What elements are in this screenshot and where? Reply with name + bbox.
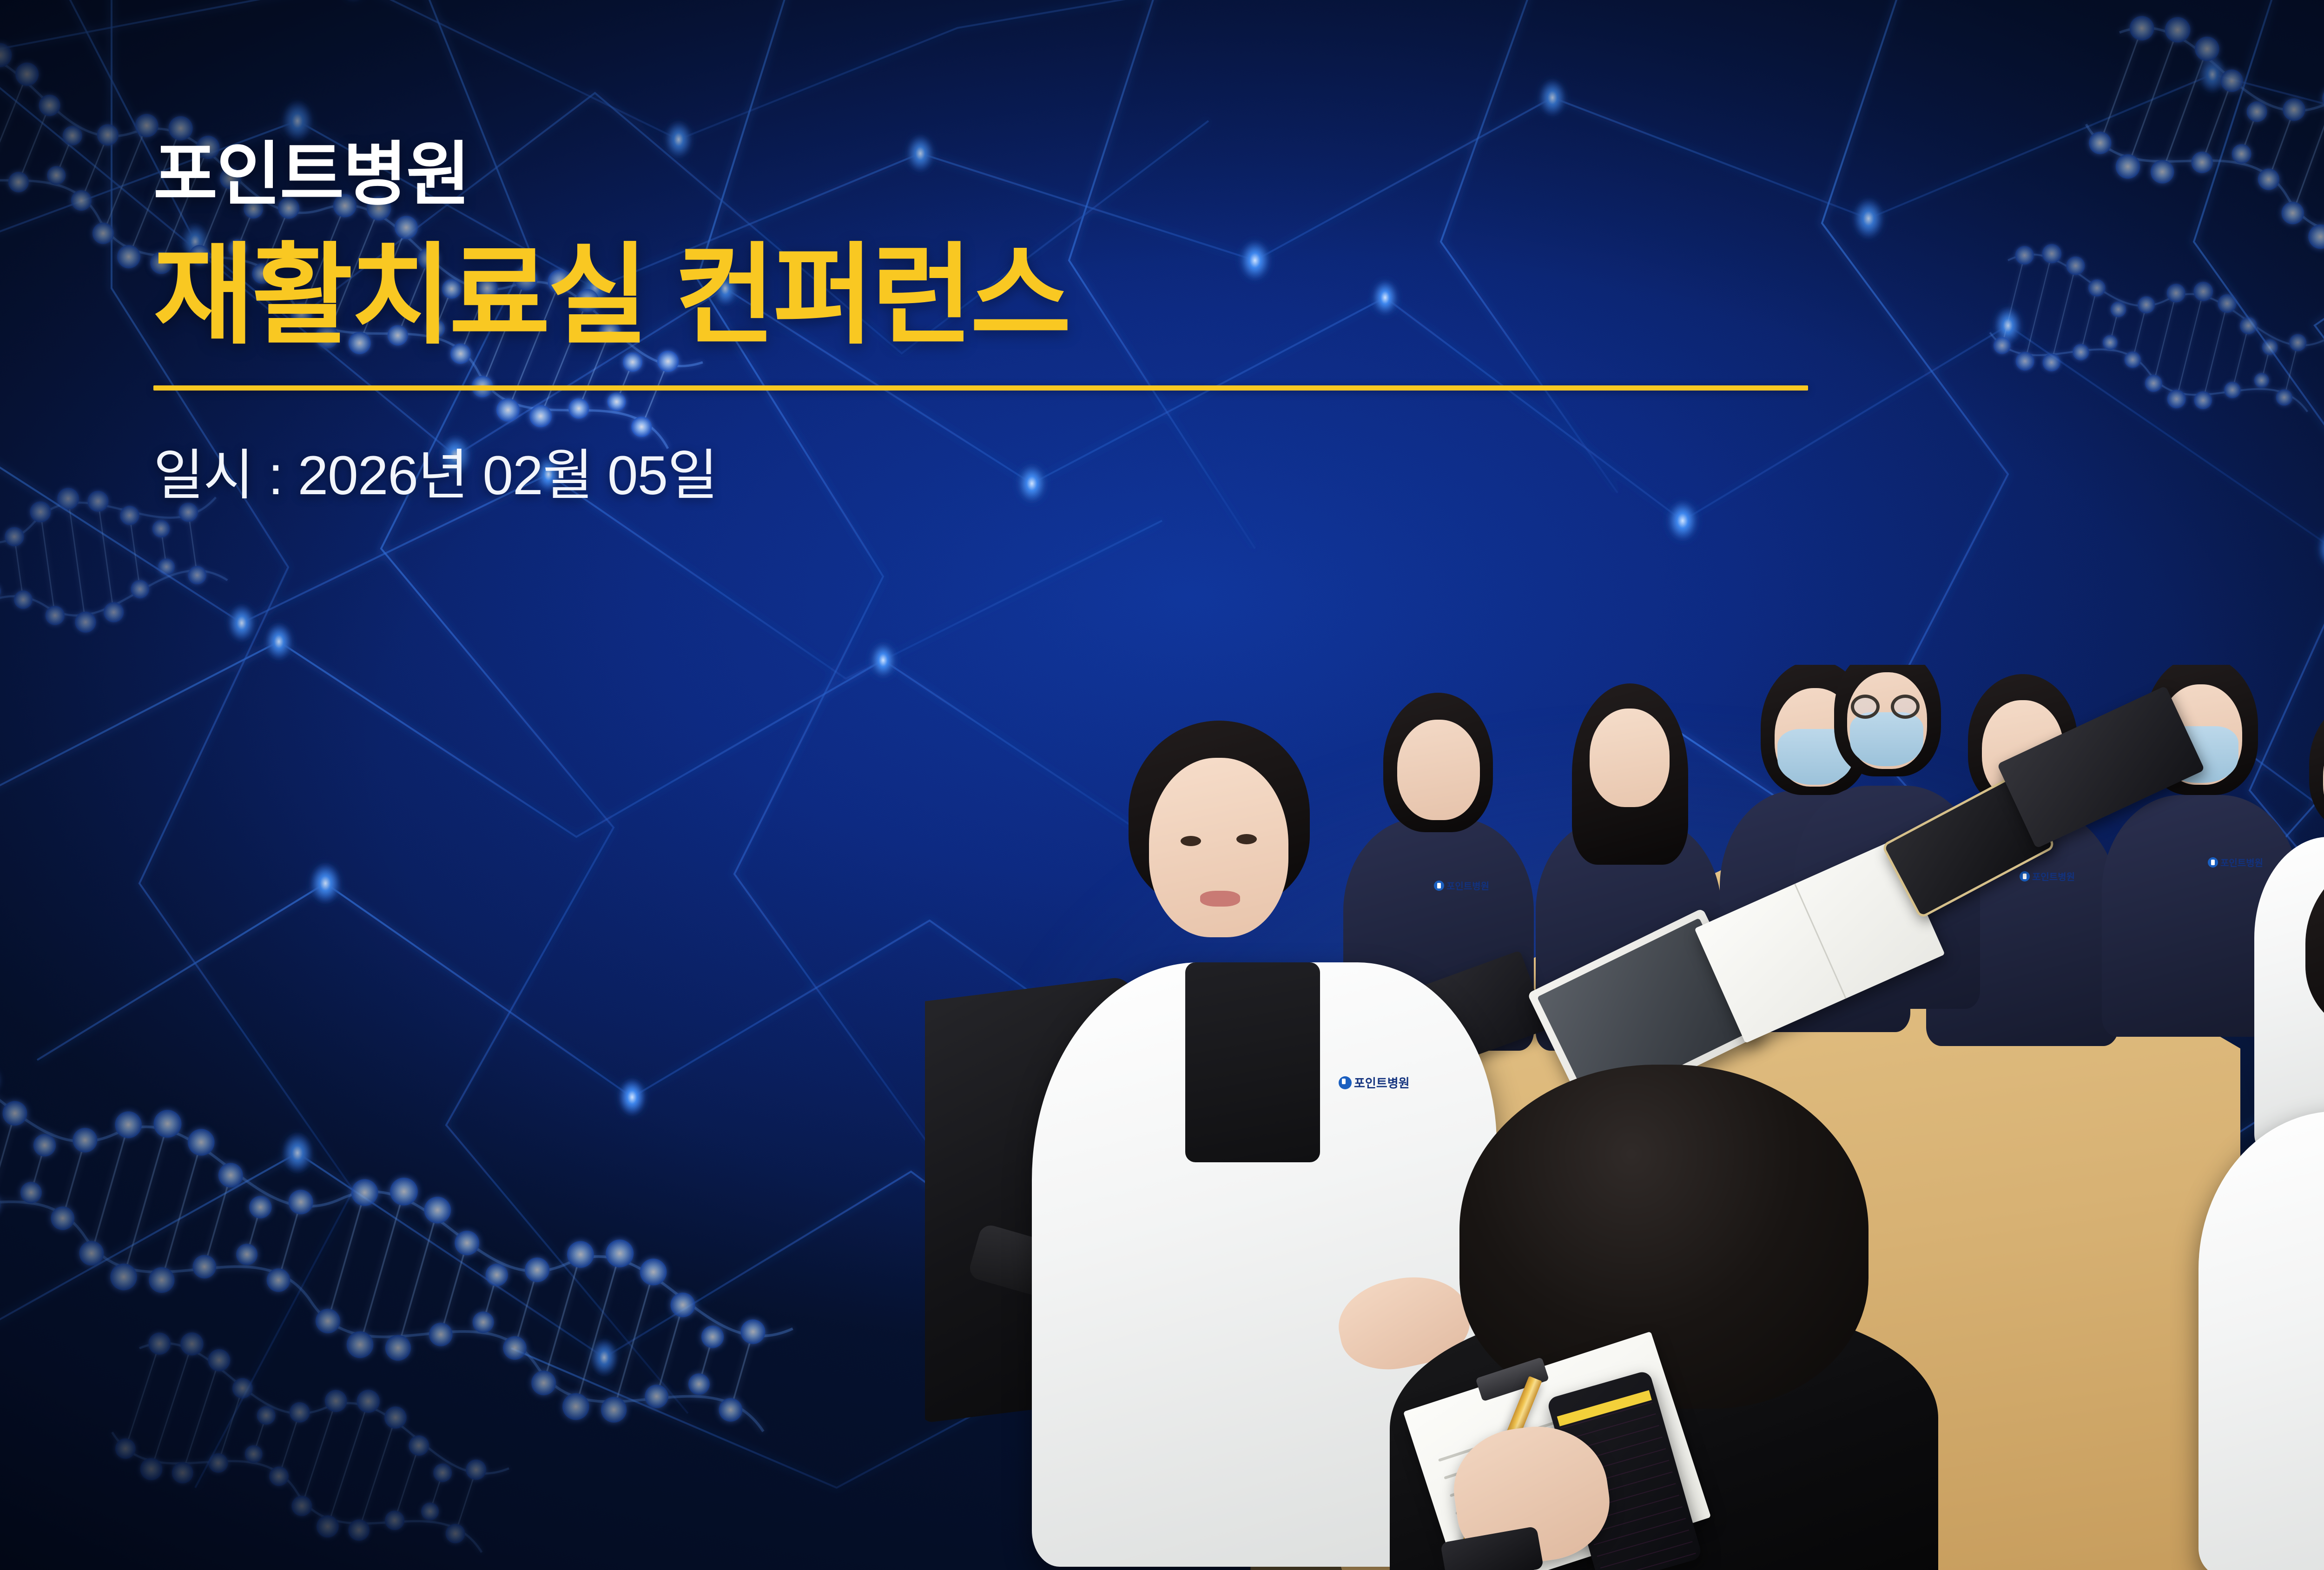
uniform-logo-text: 포인트병원 — [2032, 869, 2075, 883]
hospital-p-icon — [2020, 871, 2030, 881]
uniform-logo: 포인트병원 — [2020, 869, 2075, 883]
face — [1590, 709, 1670, 807]
hair-back-of-head — [1459, 1065, 1868, 1409]
person-doctor-glasses: 포인트병원 — [2199, 851, 2324, 1570]
hospital-p-icon — [1339, 1076, 1352, 1089]
eyeglasses — [1851, 695, 1880, 719]
eyeglasses — [1891, 695, 1920, 719]
title-card-stage: 포인트병원 재활치료실 컨퍼런스 일시 : 2026년 02월 05일 포인트병… — [0, 0, 2324, 1570]
inner-shirt — [1185, 962, 1320, 1162]
event-datetime: 일시 : 2026년 02월 05일 — [153, 431, 1873, 510]
white-coat — [2199, 1111, 2324, 1570]
accent-divider — [153, 385, 1808, 391]
hair — [2305, 851, 2324, 1037]
phone-app-header — [1557, 1390, 1652, 1426]
face — [1149, 758, 1288, 937]
page-title: 재활치료실 컨퍼런스 — [153, 240, 1873, 352]
conference-photo: 포인트병원 포인트병원 — [925, 665, 2324, 1570]
hair — [2309, 697, 2324, 832]
mouth — [1200, 891, 1240, 907]
title-text-block: 포인트병원 재활치료실 컨퍼런스 일시 : 2026년 02월 05일 — [153, 139, 1873, 510]
brand-name: 포인트병원 — [153, 139, 1873, 209]
eye-left — [1181, 836, 1201, 846]
face-mask — [1850, 712, 1923, 766]
eye-right — [1236, 834, 1257, 844]
